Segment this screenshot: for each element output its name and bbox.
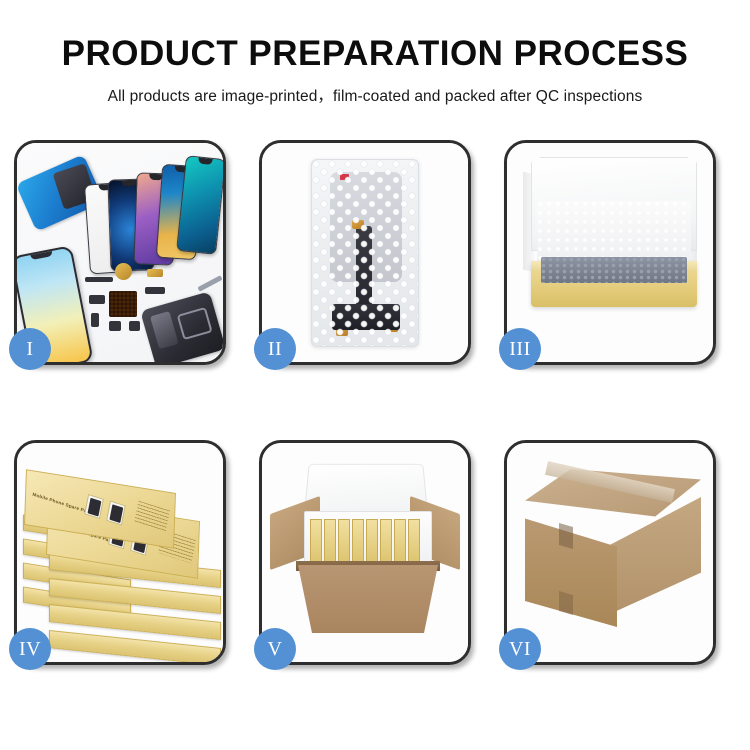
carton-seam [559,523,573,549]
tweezers-tool-icon [197,275,222,292]
panel-step-5-image [262,443,468,662]
gold-boxes-inside-foam [310,519,426,563]
speaker-part-icon [115,263,132,280]
panel-step-2-image [262,143,468,362]
panel-step-4-image: Mobile Phone Spare Parts Mobile Phone Sp… [17,443,223,662]
button-flex-part-icon [145,287,165,294]
header: PRODUCT PREPARATION PROCESS All products… [0,0,750,106]
badge-step-5: V [254,628,296,670]
gold-box-unit [310,519,322,563]
product-preparation-infographic: PRODUCT PREPARATION PROCESS All products… [0,0,750,750]
panel-step-6-image [507,443,713,662]
carton-body [298,565,438,633]
phone-notch-icon [30,251,53,260]
gold-box-product-photo [84,494,104,519]
page-subtitle: All products are image-printed，film-coat… [0,71,750,106]
sim-tray-part-icon [91,313,99,327]
gold-box-spec-lines [134,501,170,533]
panel-step-1: I [14,140,226,365]
gold-box-product-photo [106,500,126,525]
phone-back-housing-icon [140,291,223,362]
gold-box-unit [338,519,350,563]
gold-box-unit [352,519,364,563]
vibration-motor-part-icon [129,321,140,331]
packed-screen-in-foam [541,257,687,283]
gold-box-unit [380,519,392,563]
panel-step-5: V [259,440,471,665]
antenna-strip-part-icon [85,277,113,282]
panel-step-3-image [507,143,713,362]
badge-step-6: VI [499,628,541,670]
gold-box-unit [394,519,406,563]
panel-step-4: Mobile Phone Spare Parts Mobile Phone Sp… [14,440,226,665]
phone-notch-icon [198,158,213,165]
badge-step-1: I [9,328,51,370]
process-steps-grid: I II [14,140,736,680]
panel-step-6: VI [504,440,716,665]
bubble-texture-overlay [312,160,418,346]
gold-box-unit [408,519,420,563]
bubble-wrap-bag [311,159,419,347]
phones-parts-illustration [17,143,223,362]
flex-connector-part-icon [147,269,163,277]
logic-board-part-icon [109,291,137,317]
gold-box-unit [366,519,378,563]
badge-step-2: II [254,328,296,370]
panel-step-2: II [259,140,471,365]
battery-connector-part-icon [109,321,121,331]
gold-box-unit [324,519,336,563]
camera-module-part-icon [89,295,105,304]
page-title: PRODUCT PREPARATION PROCESS [0,0,750,71]
carton-seam [559,591,573,615]
panel-step-1-image [17,143,223,362]
gold-box-stack: Mobile Phone Spare Parts Mobile Phone Sp… [23,465,223,647]
sealed-carton [525,469,701,633]
panel-step-3: III [504,140,716,365]
badge-step-3: III [499,328,541,370]
badge-step-4: IV [9,628,51,670]
